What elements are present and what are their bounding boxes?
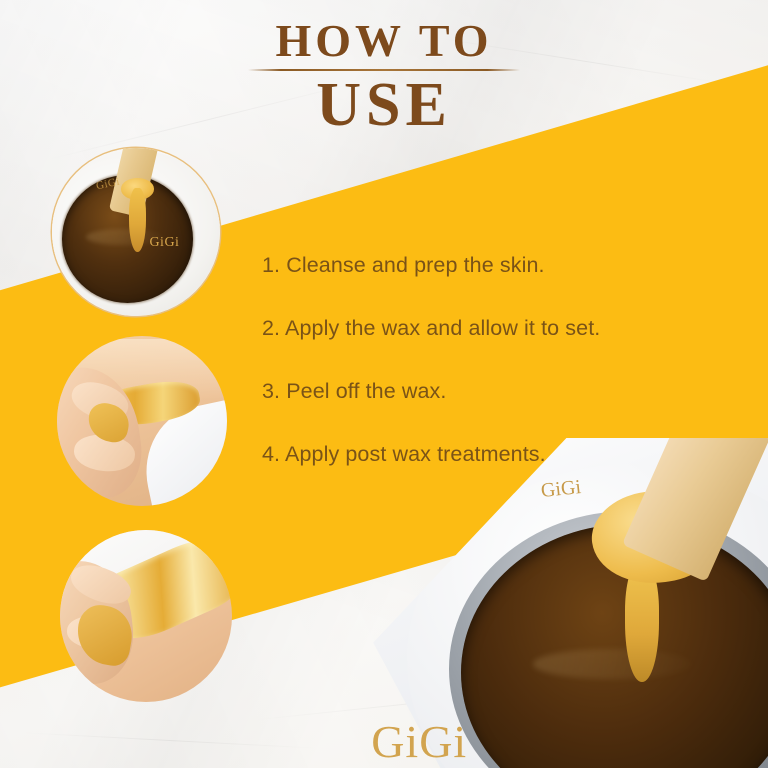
gigi-logo-bottom-wrap: GiGi — [360, 698, 500, 768]
step-item-3: 3. Peel off the wax. — [262, 378, 702, 404]
step-photo-wax-warmer: GiGi GiGi — [52, 148, 220, 316]
step-item-2: 2. Apply the wax and allow it to set. — [262, 315, 702, 341]
wax-drip — [129, 188, 146, 252]
gigi-logo-bottom: GiGi — [371, 715, 467, 768]
infographic-canvas: HOW TO USE 1. Cleanse and prep the skin.… — [0, 0, 768, 768]
pot-scene: GiGi GiGi — [52, 148, 220, 316]
skin-scene-peel — [60, 530, 232, 702]
steps-list: 1. Cleanse and prep the skin. 2. Apply t… — [262, 252, 702, 467]
step-photo-applying-wax — [57, 336, 227, 506]
title-line-2: USE — [0, 73, 768, 137]
warmer-wax-sheen — [533, 649, 693, 679]
title-line-1: HOW TO — [0, 16, 768, 66]
gigi-logo-side: GiGi — [149, 235, 179, 251]
skin-scene-apply — [57, 336, 227, 506]
page-header: HOW TO USE — [0, 16, 768, 137]
gigi-logo-hero: GiGi — [540, 476, 582, 503]
step-photo-peeling-wax — [60, 530, 232, 702]
step-item-1: 1. Cleanse and prep the skin. — [262, 252, 702, 278]
step-item-4: 4. Apply post wax treatments. — [262, 441, 702, 467]
